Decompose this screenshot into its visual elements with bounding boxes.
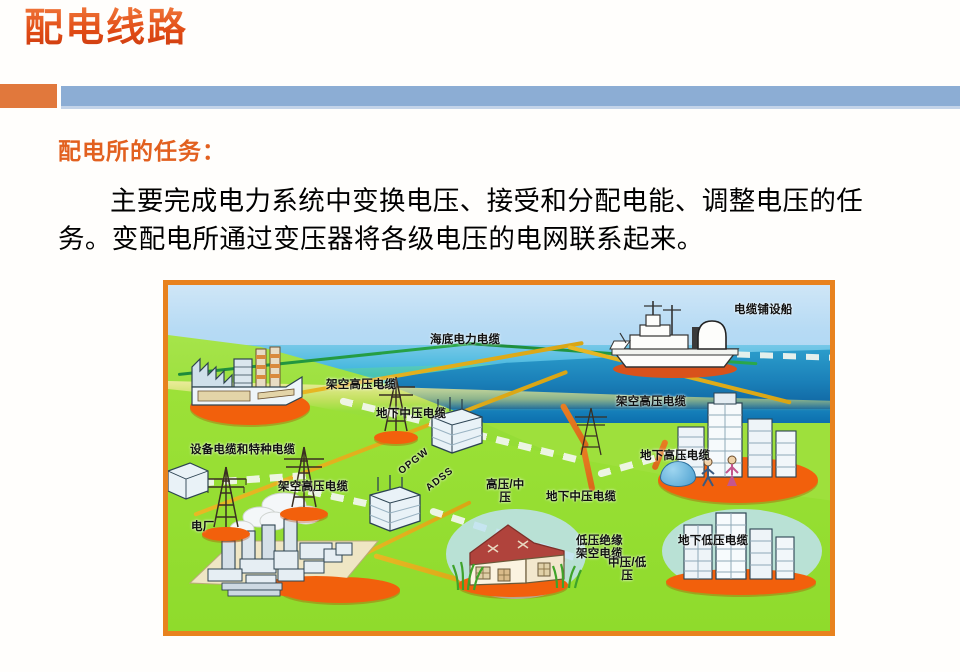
label-underground-mv-cable-top: 地下中压电缆 <box>376 408 446 421</box>
slide-root: 配电线路 配电所的任务： 主要完成电力系统中变换电压、接受和分配电能、调整电压的… <box>0 0 960 672</box>
header-rule-orange-block <box>0 84 57 108</box>
hv-mv-substation-building <box>424 397 486 459</box>
label-equipment-and-special-cable: 设备电缆和特种电缆 <box>190 444 295 457</box>
label-submarine-power-cable: 海底电力电缆 <box>430 334 500 347</box>
label-overhead-hv-cable-mid: 架空高压电缆 <box>616 396 686 409</box>
label-overhead-hv-cable-top: 架空高压电缆 <box>326 379 396 392</box>
header-rule-blue-shadow <box>61 106 960 109</box>
label-power-plant: 电厂 <box>191 521 214 534</box>
label-underground-hv-cable: 地下高压电缆 <box>640 450 710 463</box>
village-grass-tuft-right <box>552 561 582 594</box>
body-paragraph: 主要完成电力系统中变换电压、接受和分配电能、调整电压的任务。变配电所通过变压器将… <box>58 182 888 258</box>
label-underground-lv-cable: 地下低压电缆 <box>678 535 748 548</box>
distribution-building-left <box>168 459 210 503</box>
cable-laying-ship <box>600 297 750 383</box>
person-east-2 <box>724 455 740 492</box>
industrial-factory <box>190 345 316 407</box>
page-title: 配电线路 <box>24 6 188 53</box>
label-overhead-hv-cable-low: 架空高压电缆 <box>278 481 348 494</box>
label-cable-laying-ship: 电缆铺设船 <box>734 304 793 317</box>
mv-lv-substation-building <box>364 475 424 539</box>
section-subheading: 配电所的任务： <box>58 132 226 166</box>
label-underground-mv-cable-low: 地下中压电缆 <box>546 491 616 504</box>
village-grass-tuft <box>452 559 486 596</box>
city-dome-east <box>660 461 696 487</box>
label-hv-mv-substation: 高压/中 压 <box>486 479 525 505</box>
power-network-figure: 海底电力电缆 电缆铺设船 架空高压电缆 地下中压电缆 架空高压电缆 地下高压电缆… <box>163 280 835 636</box>
header-rule-blue-bar <box>61 86 960 106</box>
transmission-tower-4 <box>572 405 610 459</box>
label-mv-lv-substation: 中压/低 压 <box>608 557 647 583</box>
figure-canvas: 海底电力电缆 电缆铺设船 架空高压电缆 地下中压电缆 架空高压电缆 地下高压电缆… <box>168 285 830 631</box>
